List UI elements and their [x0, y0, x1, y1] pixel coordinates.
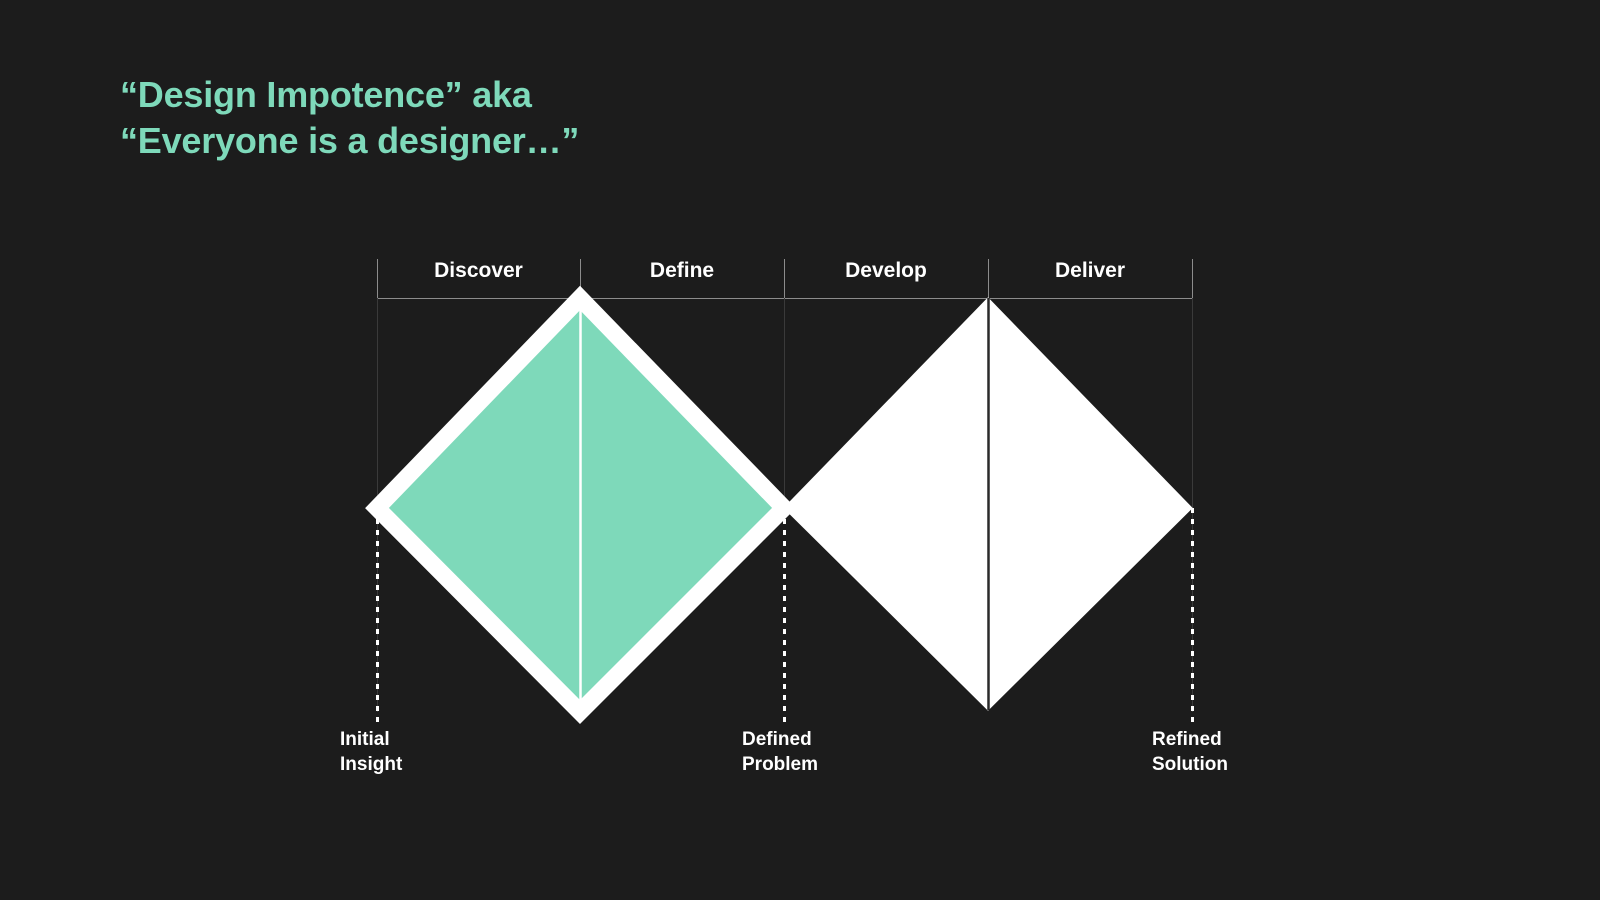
milestone-label-initial-insight: Initial Insight [340, 728, 402, 777]
milestone-initial-insight-line-2: Insight [340, 753, 402, 778]
phase-label-define: Define [580, 259, 784, 283]
slide-canvas: “Design Impotence” aka “Everyone is a de… [0, 0, 1600, 900]
milestone-refined-solution-line-1: Refined [1152, 728, 1228, 753]
phase-label-discover: Discover [377, 259, 580, 283]
phase-label-deliver: Deliver [988, 259, 1192, 283]
milestone-label-defined-problem: Defined Problem [742, 728, 818, 777]
milestone-initial-insight-line-1: Initial [340, 728, 402, 753]
milestone-defined-problem-line-1: Defined [742, 728, 818, 753]
milestone-refined-solution-line-2: Solution [1152, 753, 1228, 778]
milestone-defined-problem-line-2: Problem [742, 753, 818, 778]
milestone-label-refined-solution: Refined Solution [1152, 728, 1228, 777]
phase-label-develop: Develop [784, 259, 988, 283]
